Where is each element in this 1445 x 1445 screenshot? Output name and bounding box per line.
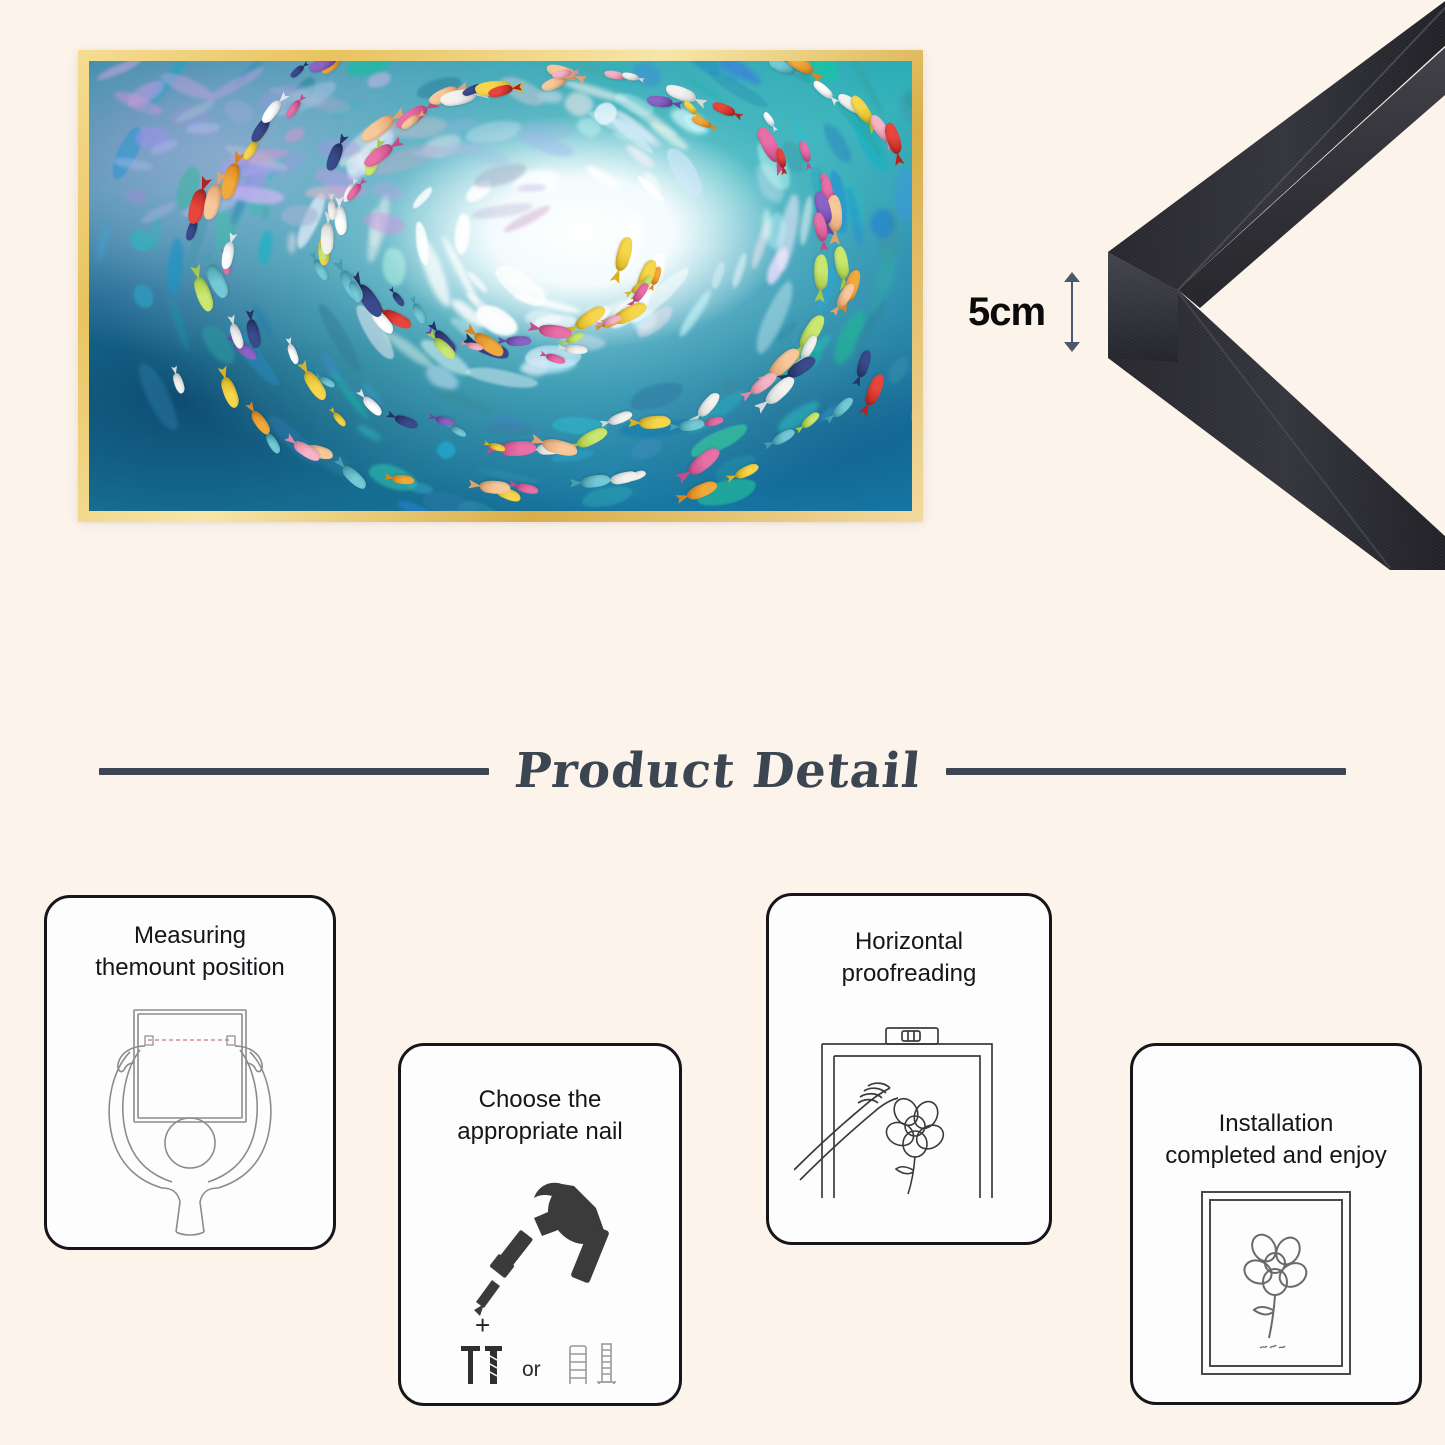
step-card-installation-complete: Installation completed and enjoy bbox=[1130, 1043, 1422, 1405]
step-title-line2: appropriate nail bbox=[415, 1116, 665, 1148]
frame-depth-callout: 5cm bbox=[968, 272, 1081, 352]
step-card-title: Measuring themount position bbox=[47, 920, 333, 984]
section-header: Product Detail bbox=[0, 736, 1445, 806]
step-title-line1: Installation bbox=[1147, 1108, 1405, 1140]
hero-artwork bbox=[78, 50, 923, 522]
page-title: Product Detail bbox=[512, 743, 924, 799]
step-title-line2: themount position bbox=[61, 952, 319, 984]
step-card-measuring: Measuring themount position bbox=[44, 895, 336, 1250]
divider-left bbox=[99, 768, 489, 775]
step-title-line1: Horizontal bbox=[783, 926, 1035, 958]
person-holding-frame-measuring-icon bbox=[47, 1006, 333, 1236]
step-title-line2: completed and enjoy bbox=[1147, 1140, 1405, 1172]
step-card-title: Choose the appropriate nail bbox=[401, 1084, 679, 1148]
step-card-title: Installation completed and enjoy bbox=[1133, 1108, 1419, 1172]
double-arrow-vertical-icon bbox=[1063, 272, 1081, 352]
step-title-line1: Choose the bbox=[415, 1084, 665, 1116]
step-title-line2: proofreading bbox=[783, 958, 1035, 990]
step-title-line1: Measuring bbox=[61, 920, 319, 952]
hand-with-spirit-level-on-frame-icon bbox=[769, 1020, 1049, 1205]
painting-canvas bbox=[89, 61, 912, 511]
step-card-choose-nail: Choose the appropriate nail bbox=[398, 1043, 682, 1406]
black-frame-sample bbox=[1060, 0, 1445, 570]
plus-symbol: + bbox=[475, 1310, 490, 1340]
depth-label: 5cm bbox=[968, 290, 1045, 335]
or-label: or bbox=[522, 1358, 541, 1381]
hammer-and-nails-icon: + or bbox=[401, 1174, 679, 1384]
divider-right bbox=[946, 768, 1346, 775]
framed-flower-artwork-icon bbox=[1133, 1186, 1419, 1386]
product-detail-page: 5cm Product Detail Measuring themount po… bbox=[0, 0, 1445, 1445]
gold-frame bbox=[78, 50, 923, 522]
step-card-horizontal-proofreading: Horizontal proofreading bbox=[766, 893, 1052, 1245]
step-card-title: Horizontal proofreading bbox=[769, 926, 1049, 990]
